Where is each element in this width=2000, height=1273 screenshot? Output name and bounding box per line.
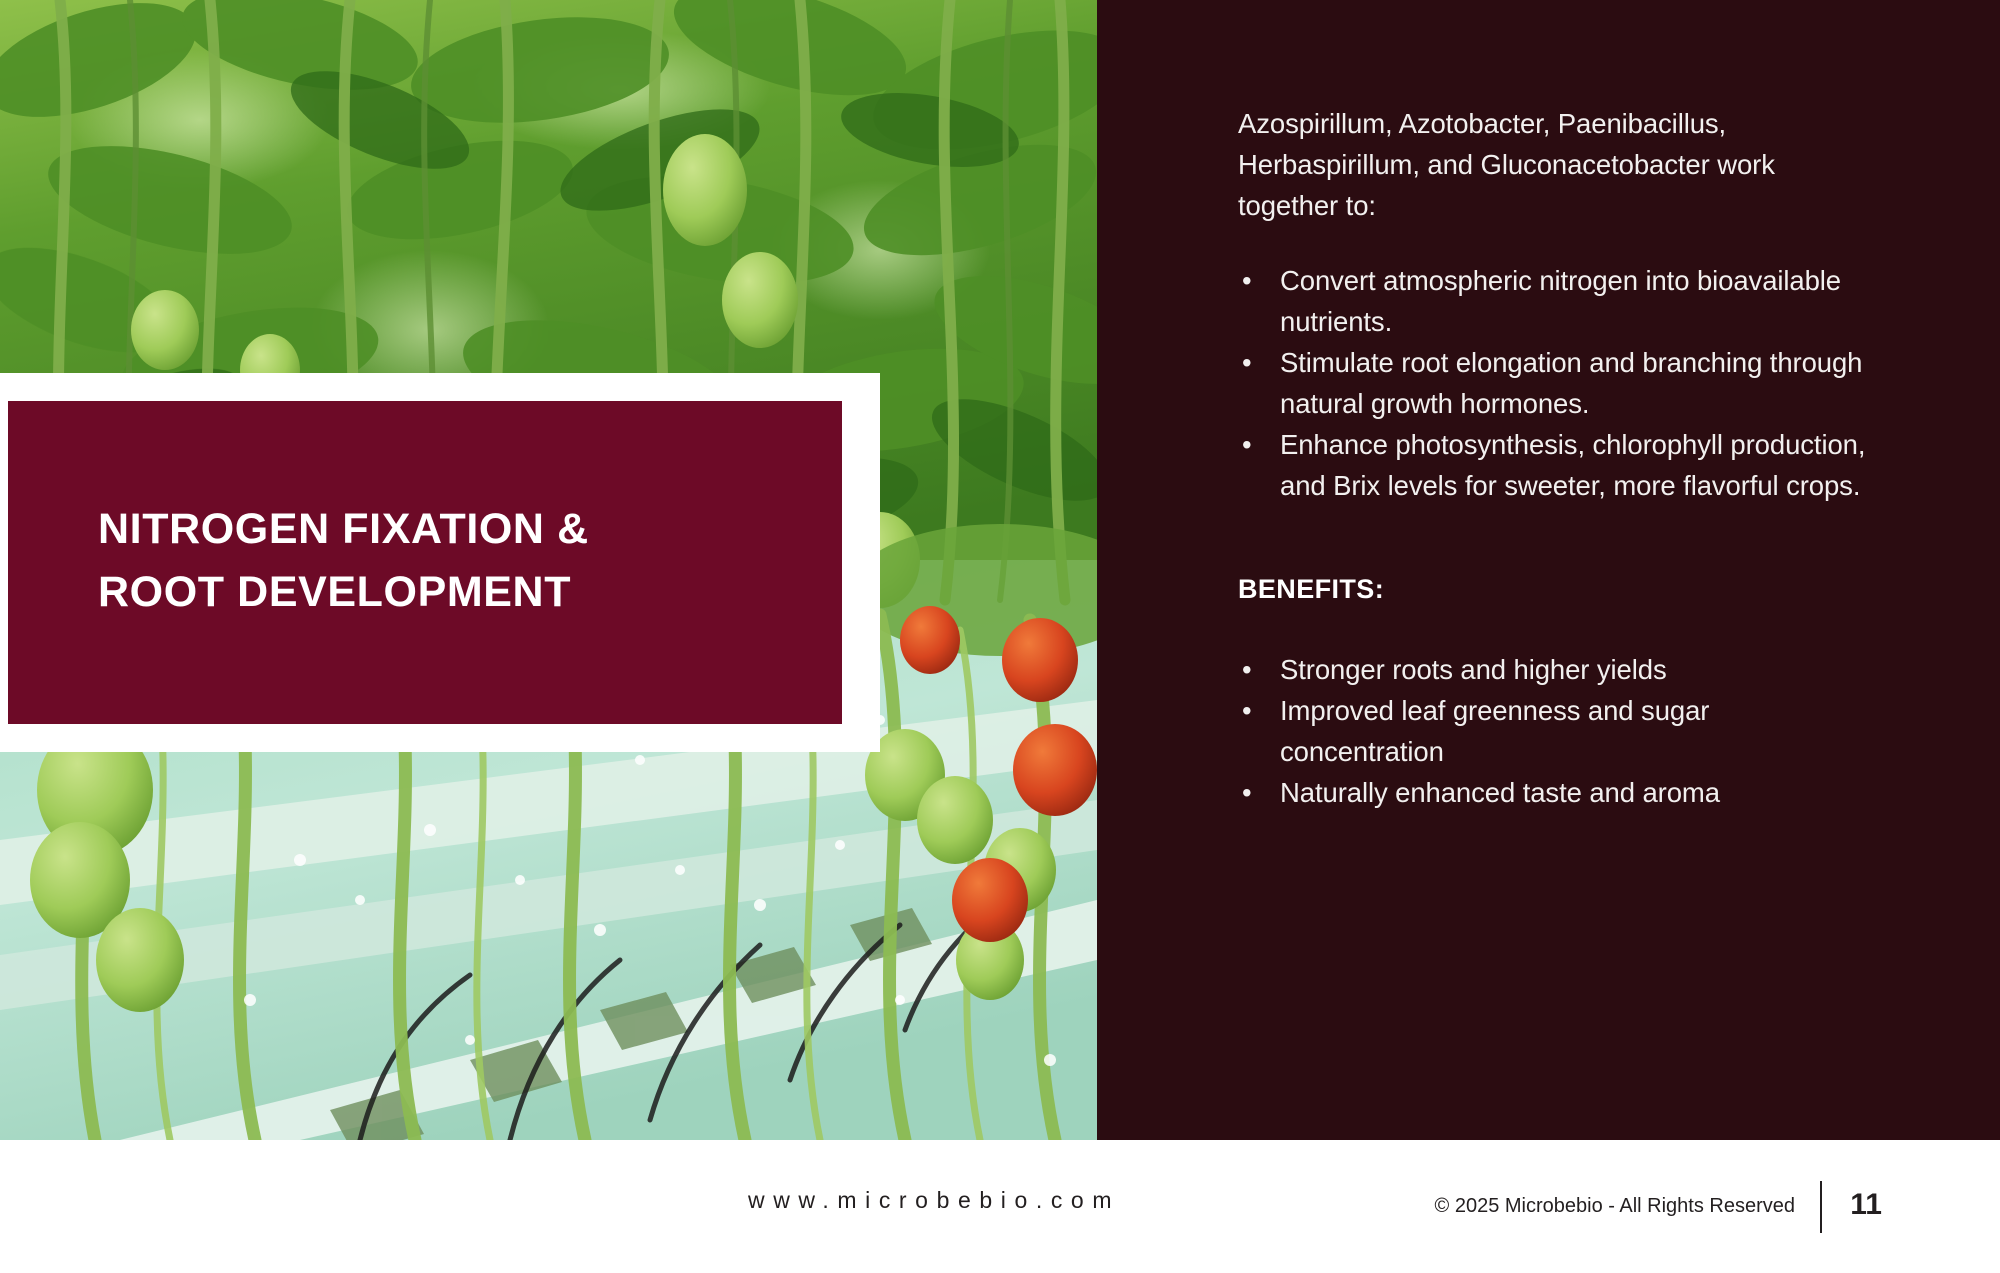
bullet-icon: • — [1242, 424, 1252, 465]
page-title-line-1: NITROGEN FIXATION & — [98, 498, 788, 561]
spacer — [1238, 506, 1878, 574]
list-item-text: Stronger roots and higher yields — [1280, 654, 1667, 685]
list-item: • Convert atmospheric nitrogen into bioa… — [1238, 260, 1878, 342]
benefits-bullet-list: • Stronger roots and higher yields • Imp… — [1238, 649, 1878, 813]
page-number: 11 — [1850, 1188, 1882, 1222]
list-item-text: Stimulate root elongation and branching … — [1280, 347, 1862, 419]
list-item: • Naturally enhanced taste and aroma — [1238, 772, 1878, 813]
intro-paragraph: Azospirillum, Azotobacter, Paenibacillus… — [1238, 103, 1878, 226]
spacer — [1238, 605, 1878, 649]
slide: Azospirillum, Azotobacter, Paenibacillus… — [0, 0, 2000, 1273]
title-card-frame: NITROGEN FIXATION & ROOT DEVELOPMENT — [0, 373, 880, 752]
benefits-heading: BENEFITS: — [1238, 574, 1878, 605]
footer-divider — [1820, 1181, 1822, 1233]
list-item: • Enhance photosynthesis, chlorophyll pr… — [1238, 424, 1878, 506]
list-item-text: Improved leaf greenness and sugar concen… — [1280, 695, 1709, 767]
copyright-text: © 2025 Microbebio - All Rights Reserved — [1435, 1195, 1795, 1218]
bullet-icon: • — [1242, 690, 1252, 731]
list-item-text: Convert atmospheric nitrogen into bioava… — [1280, 265, 1841, 337]
bullet-icon: • — [1242, 260, 1252, 301]
title-card: NITROGEN FIXATION & ROOT DEVELOPMENT — [8, 401, 842, 724]
bullet-icon: • — [1242, 649, 1252, 690]
list-item-text: Enhance photosynthesis, chlorophyll prod… — [1280, 429, 1865, 501]
list-item: • Improved leaf greenness and sugar conc… — [1238, 690, 1878, 772]
mechanism-bullet-list: • Convert atmospheric nitrogen into bioa… — [1238, 260, 1878, 506]
list-item-text: Naturally enhanced taste and aroma — [1280, 777, 1720, 808]
bullet-icon: • — [1242, 342, 1252, 383]
bullet-icon: • — [1242, 772, 1252, 813]
content-panel: Azospirillum, Azotobacter, Paenibacillus… — [1097, 0, 2000, 1140]
copy-block: Azospirillum, Azotobacter, Paenibacillus… — [1238, 103, 1878, 813]
page-title: NITROGEN FIXATION & ROOT DEVELOPMENT — [98, 498, 788, 624]
list-item: • Stimulate root elongation and branchin… — [1238, 342, 1878, 424]
list-item: • Stronger roots and higher yields — [1238, 649, 1878, 690]
website-url[interactable]: www.microbebio.com — [748, 1187, 1120, 1214]
page-title-line-2: ROOT DEVELOPMENT — [98, 561, 788, 624]
